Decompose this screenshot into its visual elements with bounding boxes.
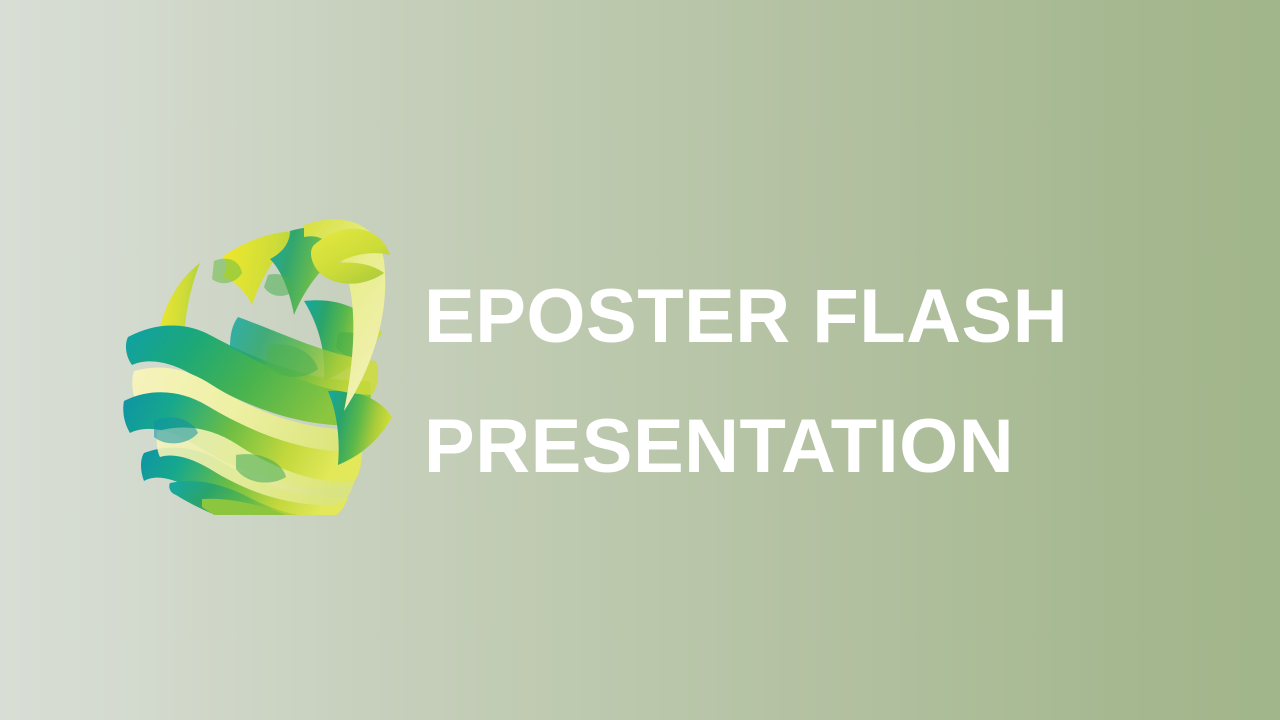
globe-ribbon-leaf-logo — [118, 205, 410, 515]
page-title: EPOSTER FLASH PRESENTATION — [424, 252, 1224, 512]
title-line-1: EPOSTER FLASH — [424, 252, 1224, 382]
title-line-2: PRESENTATION — [424, 382, 1224, 512]
slide-canvas: EPOSTER FLASH PRESENTATION — [0, 0, 1280, 720]
